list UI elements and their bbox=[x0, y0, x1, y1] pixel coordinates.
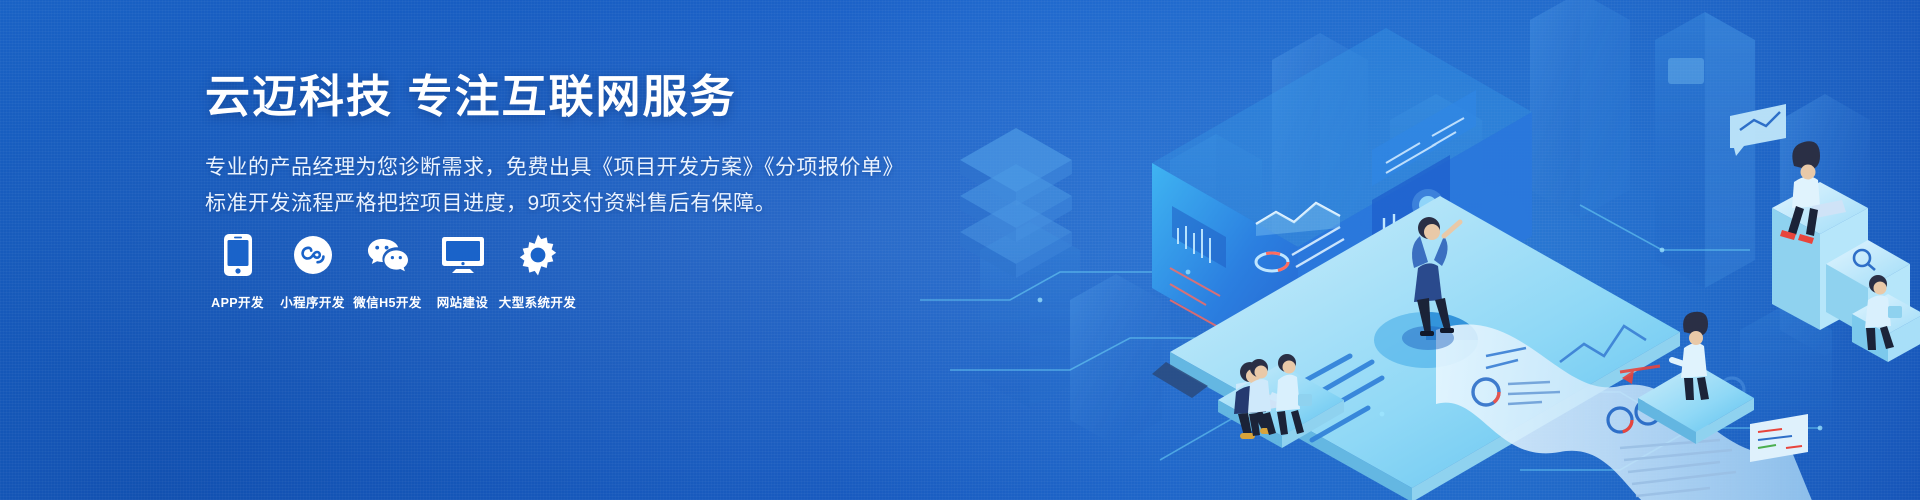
server-stack bbox=[960, 128, 1072, 278]
service-item-app[interactable]: APP开发 bbox=[200, 232, 275, 311]
service-item-website[interactable]: 网站建设 bbox=[425, 232, 500, 311]
service-label: 微信H5开发 bbox=[353, 292, 421, 311]
hero-copy: 云迈科技 专注互联网服务 专业的产品经理为您诊断需求，免费出具《项目开发方案》《… bbox=[205, 68, 905, 220]
service-label: APP开发 bbox=[211, 292, 264, 311]
page-title: 云迈科技 专注互联网服务 bbox=[205, 68, 905, 126]
mobile-phone-icon bbox=[223, 232, 253, 278]
service-item-wechat-h5[interactable]: 微信H5开发 bbox=[350, 232, 425, 311]
service-item-miniprogram[interactable]: 小程序开发 bbox=[275, 232, 350, 311]
service-label: 大型系统开发 bbox=[499, 292, 576, 311]
service-label: 小程序开发 bbox=[280, 292, 345, 311]
hero-banner: 云迈科技 专注互联网服务 专业的产品经理为您诊断需求，免费出具《项目开发方案》《… bbox=[0, 0, 1920, 500]
isometric-tech-illustration bbox=[920, 0, 1920, 500]
gear-icon bbox=[517, 232, 559, 278]
monitor-icon bbox=[441, 232, 485, 278]
subtitle-line-2: 标准开发流程严格把控项目进度，9项交付资料售后有保障。 bbox=[205, 188, 905, 220]
mini-program-icon bbox=[293, 232, 333, 278]
subtitle-line-1: 专业的产品经理为您诊断需求，免费出具《项目开发方案》《分项报价单》 bbox=[205, 152, 905, 184]
wechat-icon bbox=[365, 232, 411, 278]
service-label: 网站建设 bbox=[437, 292, 489, 311]
service-list: APP开发 小程序开发 bbox=[200, 232, 575, 311]
service-item-large-system[interactable]: 大型系统开发 bbox=[500, 232, 575, 311]
